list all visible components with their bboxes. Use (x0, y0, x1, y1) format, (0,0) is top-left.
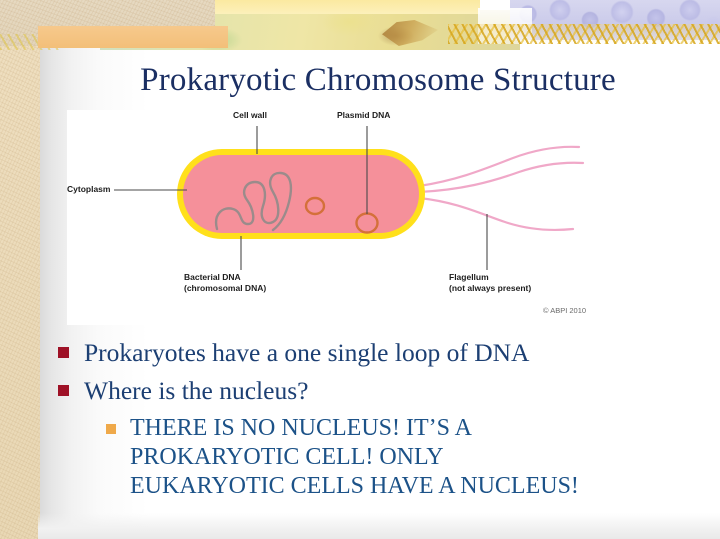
bullet-list: Prokaryotes have a one single loop of DN… (58, 338, 713, 501)
page-title: Prokaryotic Chromosome Structure (58, 62, 698, 99)
decorative-banner (0, 0, 720, 58)
bullet-text: Prokaryotes have a one single loop of DN… (84, 338, 529, 368)
sub-bullet-text: THERE IS NO NUCLEUS! IT’S A PROKARYOTIC … (130, 414, 600, 501)
label-flagellum: Flagellum (not always present) (449, 272, 531, 293)
sub-bullet-square-icon (106, 424, 116, 434)
label-flagellum-line1: Flagellum (449, 272, 489, 282)
label-plasmid-dna: Plasmid DNA (337, 110, 390, 121)
bullet-item: Where is the nucleus? (58, 376, 713, 406)
flagella-icon (419, 147, 583, 230)
diagram-copyright: © ABPI 2010 (543, 306, 586, 315)
label-bacterial-dna-line1: Bacterial DNA (184, 272, 241, 282)
label-cell-wall: Cell wall (233, 110, 267, 121)
cell-diagram-panel: Cell wall Plasmid DNA Cytoplasm Bacteria… (67, 110, 675, 325)
label-bacterial-dna: Bacterial DNA (chromosomal DNA) (184, 272, 266, 293)
sub-bullet-item: THERE IS NO NUCLEUS! IT’S A PROKARYOTIC … (106, 414, 713, 501)
label-bacterial-dna-line2: (chromosomal DNA) (184, 283, 266, 293)
bullet-square-icon (58, 347, 69, 358)
slide: Prokaryotic Chromosome Structure (0, 0, 720, 539)
banner-yellow-strip (170, 0, 480, 14)
bullet-item: Prokaryotes have a one single loop of DN… (58, 338, 713, 368)
slide-bottom-shadow (38, 513, 720, 539)
label-cytoplasm: Cytoplasm (67, 184, 110, 195)
prokaryotic-cell-illustration (67, 110, 675, 325)
left-texture-strip (0, 0, 40, 539)
cytoplasm-shape (183, 155, 419, 233)
bullet-square-icon (58, 385, 69, 396)
bullet-text: Where is the nucleus? (84, 376, 308, 406)
banner-orange-band (38, 26, 228, 48)
banner-wheat-strands (448, 24, 720, 44)
label-flagellum-line2: (not always present) (449, 283, 531, 293)
